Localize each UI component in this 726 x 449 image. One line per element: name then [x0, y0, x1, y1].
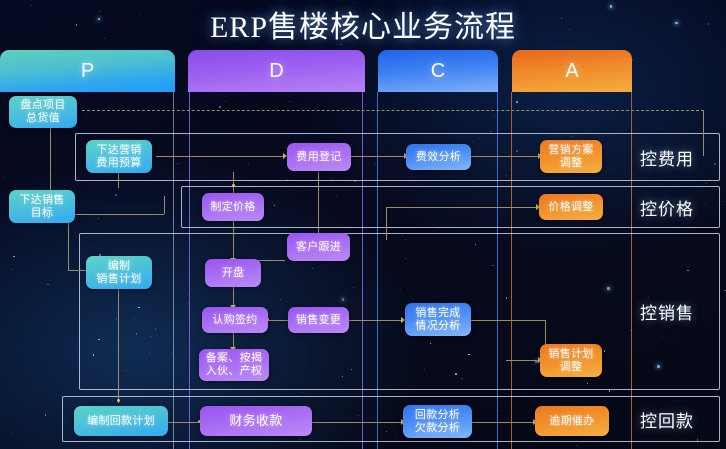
node-subscribe-sign[interactable]: 认购签约 — [202, 307, 268, 333]
connector-a-dash-down — [703, 110, 704, 156]
connector-target-to-plan-v — [164, 196, 165, 214]
page-title: ERP售楼核心业务流程 — [0, 2, 726, 46]
column-header-d[interactable]: D — [188, 50, 365, 92]
connector-register-to-feixiao — [351, 156, 405, 157]
node-inventory-total-value[interactable]: 盘点项目总货值 — [9, 96, 77, 128]
row-label-cost: 控费用 — [640, 133, 694, 181]
node-collection-arrears-analysis[interactable]: 回款分析欠款分析 — [403, 405, 472, 438]
connector-budget-to-register — [156, 156, 284, 157]
connector-collect-to-finance — [168, 422, 200, 423]
connector-finance-to-huikuan — [312, 422, 402, 423]
connector-huikuan-to-overdue — [471, 422, 534, 423]
column-header-c[interactable]: C — [378, 50, 498, 92]
node-filing-mortgage-title[interactable]: 备案、按揭入伙、产权 — [199, 349, 269, 381]
node-make-sales-plan[interactable]: 编制销售计划 — [86, 256, 152, 289]
row-label-cash: 控回款 — [640, 396, 694, 442]
connector-target-to-plan-h — [68, 214, 164, 215]
connector-salesplan-down — [118, 289, 119, 403]
node-marketing-plan-adjust[interactable]: 营销方案调整 — [540, 140, 602, 173]
node-customer-follow-up[interactable]: 客户跟进 — [287, 233, 350, 261]
column-header-a[interactable]: A — [512, 50, 632, 92]
node-set-price[interactable]: 制定价格 — [202, 193, 264, 221]
row-frame-sales — [79, 233, 720, 390]
connector-inventory-to-a — [82, 110, 704, 111]
flowchart-canvas: ERP售楼核心业务流程 P D C A — [0, 0, 726, 449]
connector-sign-to-change — [268, 320, 290, 321]
connector-analysis-out — [471, 320, 545, 321]
node-expense-effect-analysis[interactable]: 费效分析 — [406, 144, 471, 170]
node-issue-sales-target[interactable]: 下达销售目标 — [9, 190, 75, 223]
connector-price-to-adjust — [386, 207, 536, 208]
node-overdue-reminder[interactable]: 逾期催办 — [535, 406, 609, 436]
connector-feixiao-to-adjust — [471, 156, 539, 157]
node-price-adjust[interactable]: 价格调整 — [539, 194, 603, 220]
node-sales-plan-adjust[interactable]: 销售计划调整 — [540, 344, 602, 377]
node-sales-change[interactable]: 销售变更 — [288, 307, 349, 333]
row-frame-cost — [75, 133, 720, 181]
row-label-price: 控价格 — [640, 186, 694, 228]
node-expense-register[interactable]: 费用登记 — [287, 143, 351, 171]
column-header-p[interactable]: P — [0, 50, 175, 92]
dot-price-top — [232, 184, 235, 187]
node-finance-receipt[interactable]: 财务收款 — [200, 406, 312, 436]
connector-budget-down — [118, 172, 119, 188]
node-make-collection-plan[interactable]: 编制回款计划 — [74, 406, 168, 436]
connector-price-adj-drop — [386, 207, 387, 240]
connector-change-to-analysis — [348, 320, 402, 321]
dot-salesplan-bottom — [117, 399, 120, 402]
node-issue-marketing-budget[interactable]: 下达营销费用预算 — [86, 140, 152, 173]
node-sales-completion-analysis[interactable]: 销售完成情况分析 — [405, 303, 471, 336]
node-open-sale[interactable]: 开盘 — [205, 259, 261, 287]
row-label-sales: 控销售 — [640, 233, 694, 390]
